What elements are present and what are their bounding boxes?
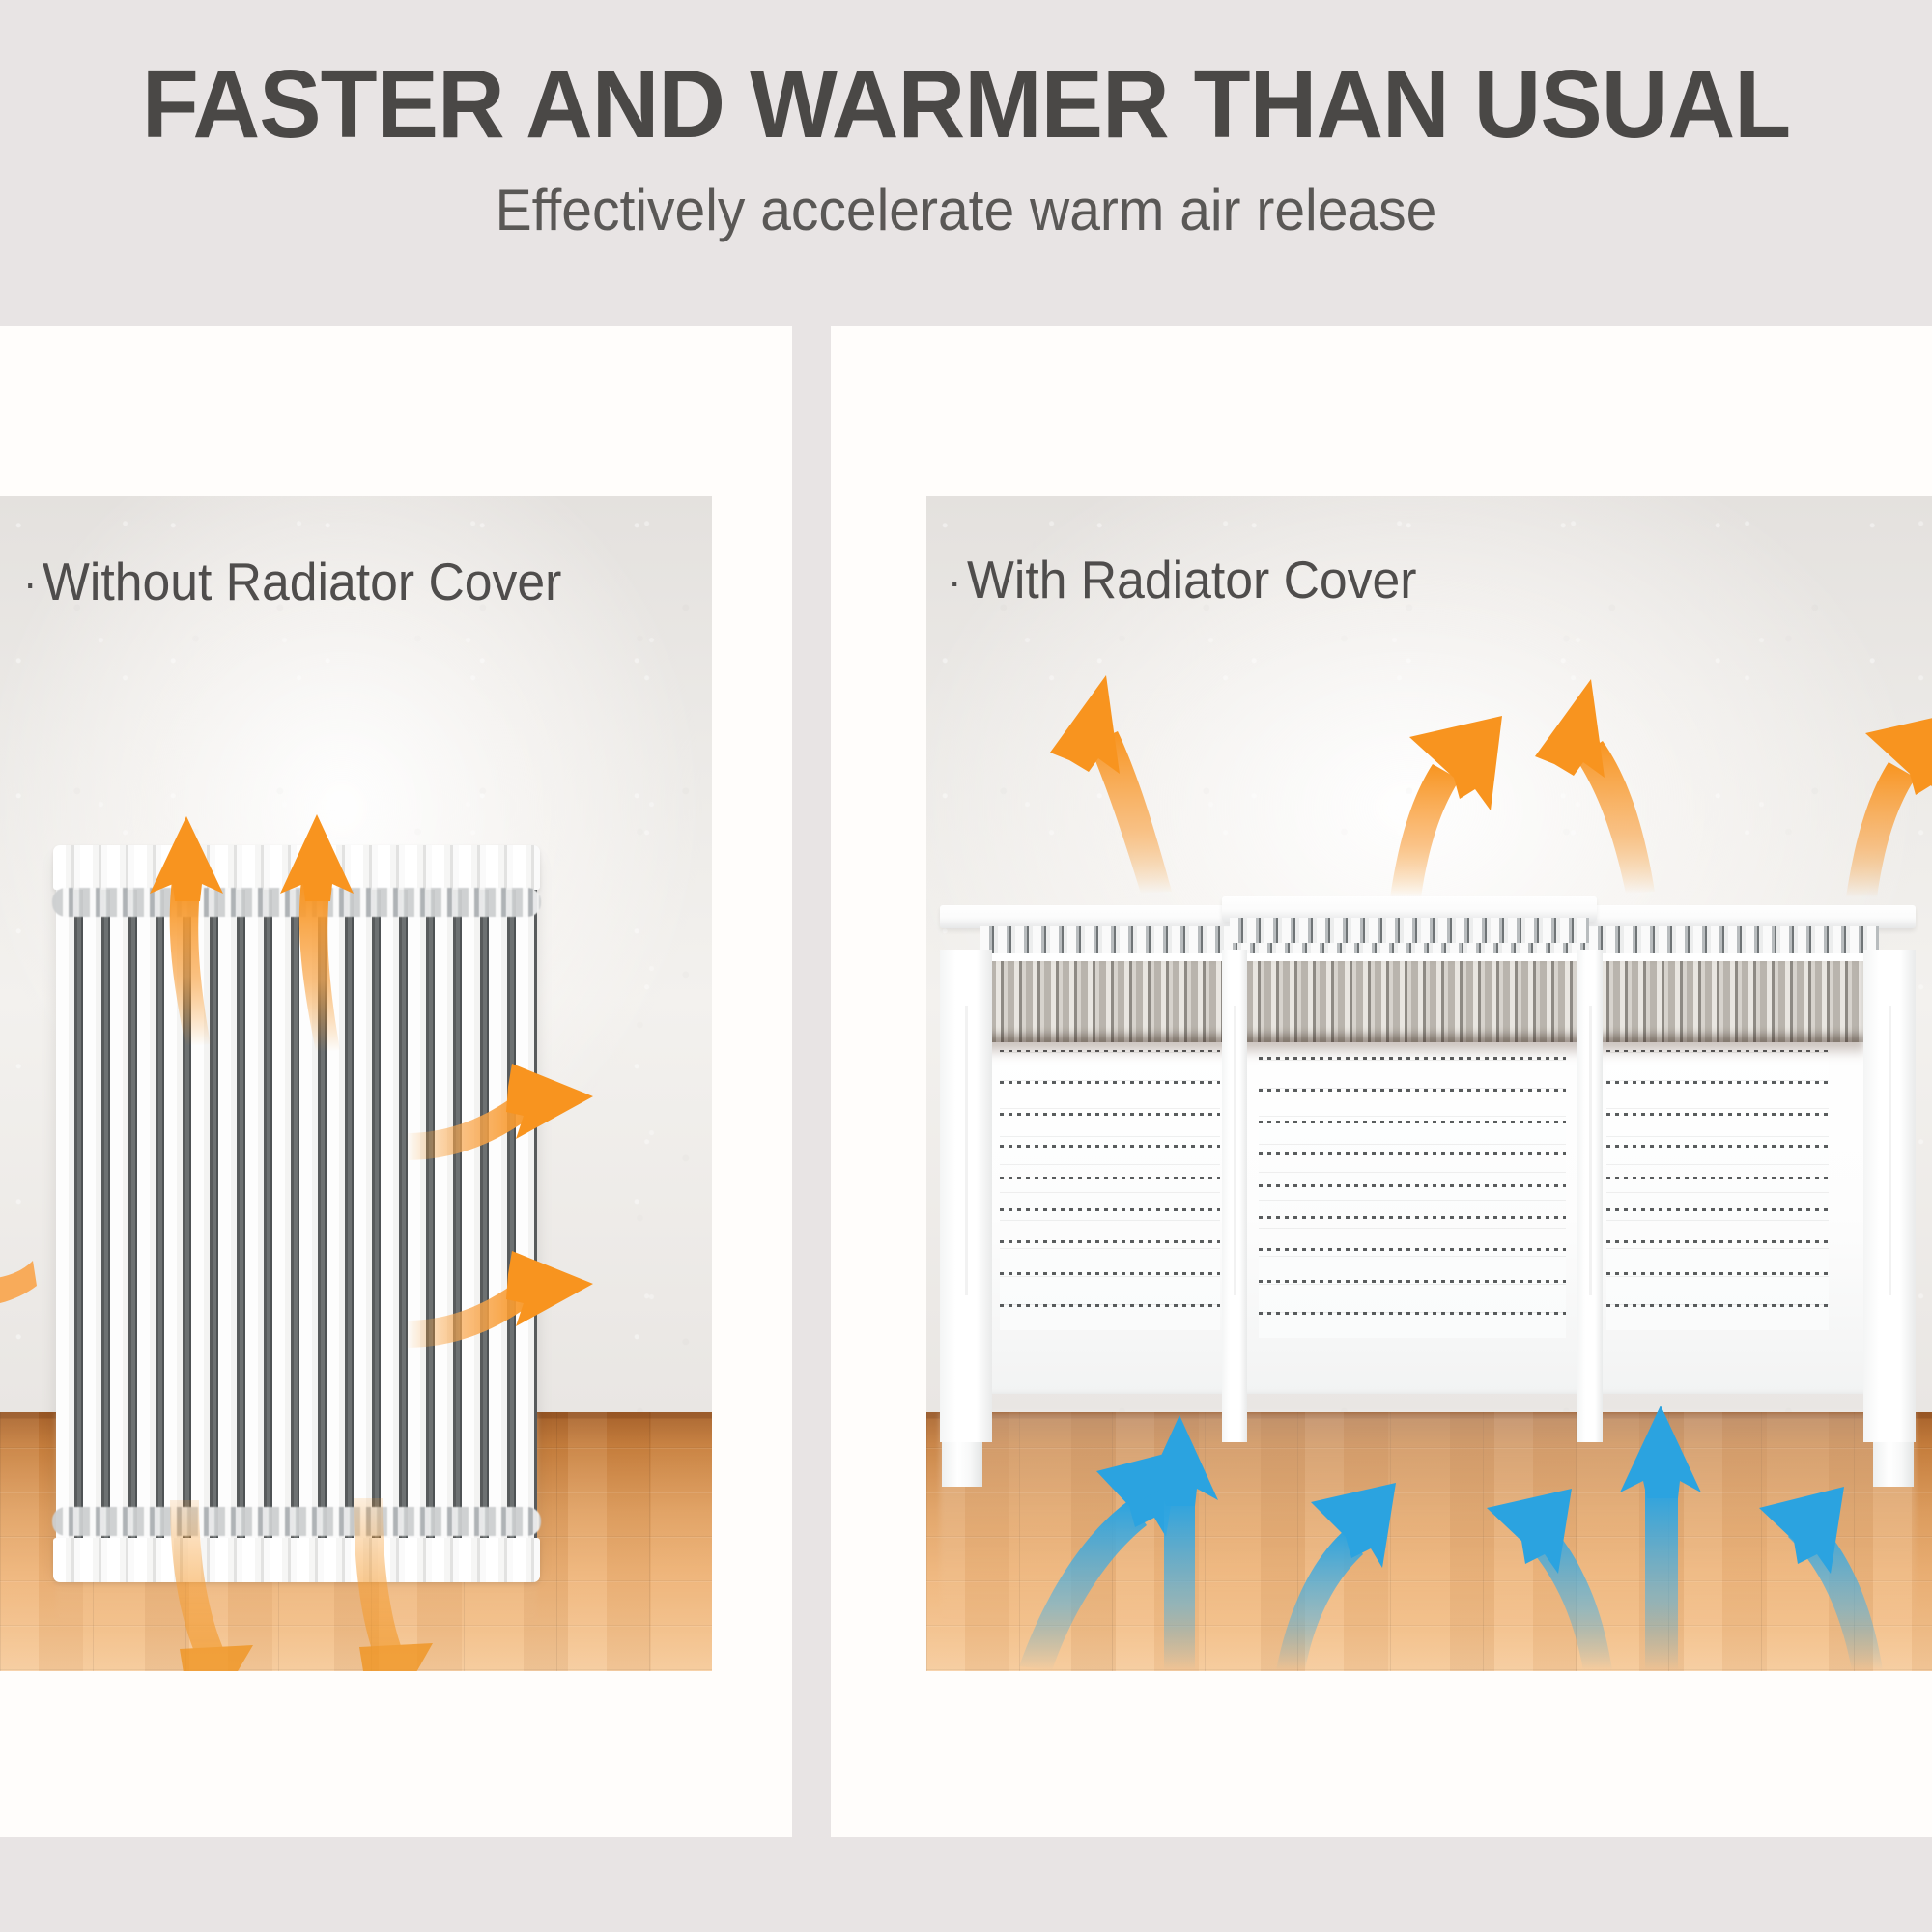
radiator-top-cap bbox=[53, 845, 540, 890]
radiator-bottom-cap bbox=[53, 1538, 540, 1582]
cover-top-vent-strip-center bbox=[1230, 918, 1589, 943]
radiator-top-joints bbox=[52, 888, 541, 917]
caption-with-cover: ·With Radiator Cover bbox=[948, 554, 1417, 607]
radiator-valve-assembly bbox=[0, 496, 4, 1215]
grille-panel-center bbox=[1259, 1019, 1566, 1338]
floor-reflection bbox=[940, 1412, 1916, 1671]
cover-post-right bbox=[1863, 950, 1916, 1442]
caption-text: With Radiator Cover bbox=[967, 550, 1416, 610]
bullet-glyph: · bbox=[23, 557, 43, 608]
grille-panel-left bbox=[1000, 1050, 1220, 1330]
caption-without-cover: ·Without Radiator Cover bbox=[23, 555, 561, 609]
photo-without-cover: ·Without Radiator Cover bbox=[0, 496, 712, 1671]
photo-with-cover: ·With Radiator Cover bbox=[926, 496, 1932, 1671]
cover-post-inner-left bbox=[1222, 950, 1247, 1442]
page-title: FASTER AND WARMER THAN USUAL bbox=[34, 56, 1898, 153]
radiator-fins bbox=[56, 853, 537, 1573]
page-subtitle: Effectively accelerate warm air release bbox=[48, 182, 1884, 240]
caption-text: Without Radiator Cover bbox=[43, 552, 561, 611]
column-radiator bbox=[56, 853, 537, 1573]
cover-post-inner-right bbox=[1577, 950, 1603, 1442]
cover-post-left bbox=[940, 950, 992, 1442]
header-band: FASTER AND WARMER THAN USUAL Effectively… bbox=[0, 0, 1932, 326]
grille-panel-right bbox=[1606, 1050, 1829, 1330]
radiator-fins-under-cover bbox=[971, 961, 1865, 1042]
bullet-glyph: · bbox=[948, 555, 967, 606]
radiator-bottom-joints bbox=[52, 1507, 541, 1536]
